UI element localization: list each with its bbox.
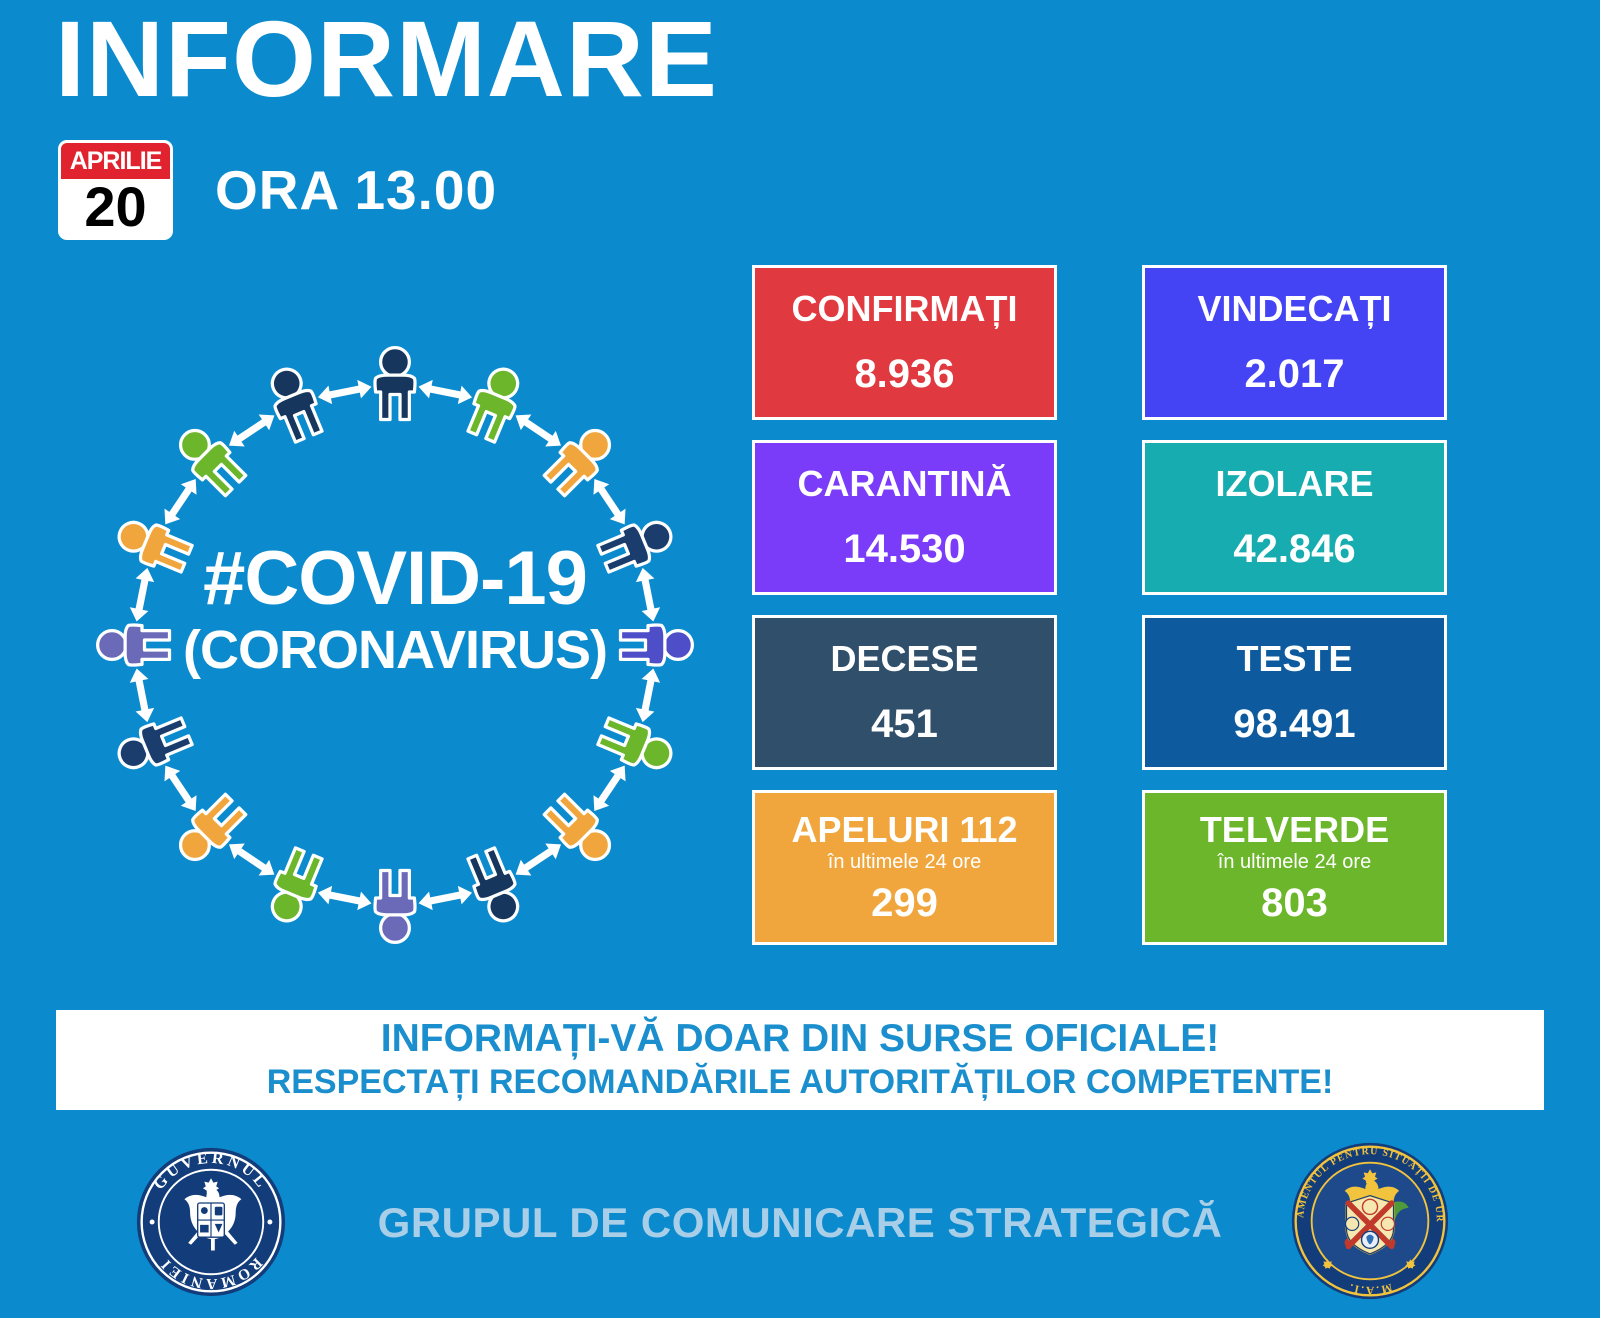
stat-box-izolare[interactable]: IZOLARE 42.846 <box>1142 440 1447 595</box>
stat-box-vindecati[interactable]: VINDECAȚI 2.017 <box>1142 265 1447 420</box>
stat-box-teste[interactable]: TESTE 98.491 <box>1142 615 1447 770</box>
hour-label: ORA 13.00 <box>215 158 497 222</box>
banner-line-1: INFORMAȚI-VĂ DOAR DIN SURSE OFICIALE! <box>381 1018 1219 1061</box>
calendar-day: 20 <box>61 179 170 237</box>
stat-label: TELVERDE <box>1200 811 1389 849</box>
stat-box-confirmati[interactable]: CONFIRMAȚI 8.936 <box>752 265 1057 420</box>
stat-label: DECESE <box>830 640 978 678</box>
dsu-mai-logo: DEPARTAMENTUL PENTRU SITUAȚII DE URGENȚĂ… <box>1290 1136 1450 1306</box>
date-bar: APRILIE 20 ORA 13.00 <box>58 140 497 240</box>
stat-value: 803 <box>1261 882 1328 924</box>
banner-line-2: RESPECTAȚI RECOMANDĂRILE AUTORITĂȚILOR C… <box>267 1063 1334 1102</box>
stat-value: 2.017 <box>1244 353 1344 395</box>
stat-label: APELURI 112 <box>791 811 1017 849</box>
stat-box-decese[interactable]: DECESE 451 <box>752 615 1057 770</box>
footer: GUVERNUL ROMÂNIEI <box>0 1128 1600 1318</box>
stat-label: VINDECAȚI <box>1197 290 1391 328</box>
stat-label: CARANTINĂ <box>798 465 1012 503</box>
people-circle-svg <box>75 325 715 965</box>
stats-grid: CONFIRMAȚI 8.936 VINDECAȚI 2.017 CARANTI… <box>752 265 1552 945</box>
guvernul-romaniei-logo: GUVERNUL ROMÂNIEI <box>135 1142 287 1302</box>
calendar-icon: APRILIE 20 <box>58 140 173 240</box>
calendar-month: APRILIE <box>61 143 170 179</box>
official-sources-banner: INFORMAȚI-VĂ DOAR DIN SURSE OFICIALE! RE… <box>56 1010 1544 1110</box>
stat-value: 14.530 <box>843 528 965 570</box>
stat-sublabel: în ultimele 24 ore <box>828 850 981 874</box>
stat-value: 8.936 <box>854 353 954 395</box>
stat-label: IZOLARE <box>1216 465 1374 503</box>
stat-value: 299 <box>871 882 938 924</box>
stat-box-carantina[interactable]: CARANTINĂ 14.530 <box>752 440 1057 595</box>
stat-label: CONFIRMAȚI <box>792 290 1018 328</box>
stat-value: 98.491 <box>1233 703 1355 745</box>
stat-sublabel: în ultimele 24 ore <box>1218 850 1371 874</box>
covid-circle-graphic: #COVID-19 (CORONAVIRUS) <box>75 325 715 965</box>
page-title: INFORMARE <box>55 2 718 115</box>
infographic-page: INFORMARE APRILIE 20 ORA 13.00 #COVID-19 <box>0 0 1600 1318</box>
stat-label: TESTE <box>1236 640 1352 678</box>
stat-value: 42.846 <box>1233 528 1355 570</box>
stat-box-apeluri-112[interactable]: APELURI 112 în ultimele 24 ore 299 <box>752 790 1057 945</box>
stat-box-telverde[interactable]: TELVERDE în ultimele 24 ore 803 <box>1142 790 1447 945</box>
stat-value: 451 <box>871 703 938 745</box>
